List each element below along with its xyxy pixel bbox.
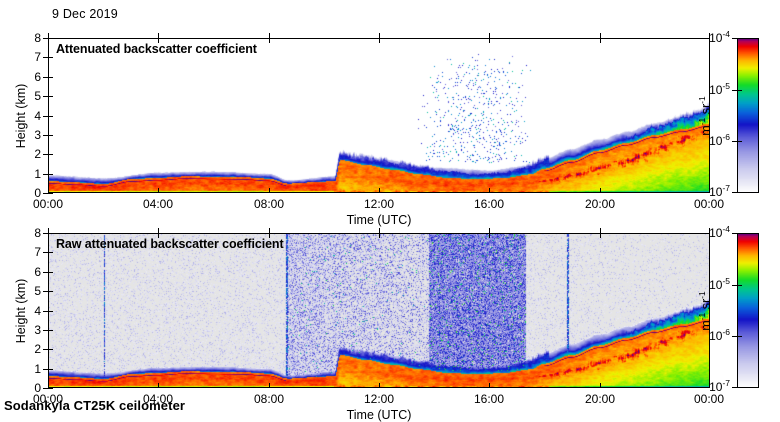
x-tick-label: 20:00 [585, 197, 615, 211]
y-tick-mark-inner [48, 311, 53, 312]
x-tick-mark-bottom [158, 188, 159, 193]
y-tick-mark-inner [48, 77, 53, 78]
panel-raw-attenuated-backscatter: Raw attenuated backscatter coefficient H… [48, 233, 710, 388]
colorbar-tick-label: 10-6 [709, 329, 730, 343]
x-tick-mark-bottom [709, 383, 710, 388]
y-tick-mark-inner [48, 272, 53, 273]
x-tick-label: 12:00 [364, 197, 394, 211]
x-tick-mark-inner-top [379, 233, 380, 238]
x-tick-mark-inner-top [489, 233, 490, 238]
colorbar-tick-mark-inner [737, 387, 742, 388]
x-tick-mark-inner-top [489, 38, 490, 43]
x-tick-mark-bottom [489, 188, 490, 193]
colorbar-tick-label: 10-4 [709, 31, 730, 45]
colorbar-bottom: m-1 sr-1 10-410-510-610-7 [737, 233, 759, 388]
y-tick-label: 3 [34, 323, 41, 337]
x-tick-mark-bottom [379, 383, 380, 388]
y-tick-mark-inner [48, 135, 53, 136]
y-tick-label: 6 [34, 70, 41, 84]
date-label: 9 Dec 2019 [52, 7, 118, 21]
x-tick-mark-inner-top [600, 233, 601, 238]
colorbar-tick-label: 10-7 [709, 380, 730, 394]
panel-attenuated-backscatter: Attenuated backscatter coefficient Heigh… [48, 38, 710, 193]
y-tick-label: 3 [34, 128, 41, 142]
x-tick-mark-bottom [379, 188, 380, 193]
y-tick-mark-inner [48, 349, 53, 350]
colorbar-tick-label: 10-7 [709, 185, 730, 199]
x-tick-mark-bottom [709, 188, 710, 193]
x-tick-label: 16:00 [474, 197, 504, 211]
colorbar-top: m-1 sr-1 10-410-510-610-7 [737, 38, 759, 193]
y-tick-label: 5 [34, 89, 41, 103]
x-tick-label: 20:00 [585, 392, 615, 406]
panel-title-raw: Raw attenuated backscatter coefficient [56, 237, 284, 251]
y-tick-label: 1 [34, 167, 41, 181]
colorbar-tick-label: 10-6 [709, 134, 730, 148]
x-tick-mark-inner-top [600, 38, 601, 43]
colorbar-tick-label: 10-5 [709, 278, 730, 292]
colorbar-tick-label: 10-4 [709, 226, 730, 240]
y-tick-label: 4 [34, 109, 41, 123]
x-tick-label: 04:00 [143, 197, 173, 211]
y-tick-mark-inner [48, 57, 53, 58]
colorbar-tick-mark-inner [737, 141, 742, 142]
x-tick-label: 08:00 [254, 392, 284, 406]
x-tick-mark-inner-top [709, 38, 710, 43]
x-tick-mark-bottom [158, 383, 159, 388]
y-axis-title-top: Height (km) [14, 83, 28, 148]
x-tick-label: 00:00 [694, 392, 724, 406]
y-tick-label: 6 [34, 265, 41, 279]
x-axis-title-top: Time (UTC) [347, 213, 412, 227]
attenuated-backscatter-heatmap [49, 39, 709, 192]
y-tick-label: 5 [34, 284, 41, 298]
y-tick-label: 8 [34, 31, 41, 45]
y-tick-label: 4 [34, 304, 41, 318]
y-tick-mark-inner [48, 174, 53, 175]
x-tick-label: 16:00 [474, 392, 504, 406]
y-tick-label: 1 [34, 362, 41, 376]
y-tick-mark-inner [48, 193, 53, 194]
x-tick-mark-bottom [489, 383, 490, 388]
y-tick-label: 7 [34, 50, 41, 64]
colorbar-tick-mark-inner [737, 336, 742, 337]
colorbar-title-bottom: m-1 sr-1 [699, 291, 713, 330]
y-tick-mark-inner [48, 291, 53, 292]
y-tick-mark-inner [48, 96, 53, 97]
y-tick-label: 8 [34, 226, 41, 240]
colorbar-gradient [738, 39, 758, 192]
y-tick-label: 7 [34, 245, 41, 259]
y-tick-mark-inner [48, 369, 53, 370]
x-tick-label: 08:00 [254, 197, 284, 211]
x-tick-mark-inner-top [269, 38, 270, 43]
colorbar-tick-label: 10-5 [709, 83, 730, 97]
x-tick-mark-bottom [600, 188, 601, 193]
ceilometer-figure: 9 Dec 2019 Attenuated backscatter coeffi… [0, 0, 780, 420]
x-tick-mark-bottom [48, 188, 49, 193]
colorbar-tick-mark-inner [737, 285, 742, 286]
colorbar-title-top: m-1 sr-1 [699, 96, 713, 135]
y-axis-title-bottom: Height (km) [14, 278, 28, 343]
y-tick-mark-inner [48, 154, 53, 155]
colorbar-tick-mark-inner [737, 233, 742, 234]
x-tick-label: 00:00 [33, 197, 63, 211]
x-tick-mark-inner-top [709, 233, 710, 238]
x-tick-label: 12:00 [364, 392, 394, 406]
colorbar-gradient [738, 234, 758, 387]
x-tick-mark-bottom [269, 383, 270, 388]
x-tick-mark-bottom [48, 383, 49, 388]
raw-attenuated-backscatter-heatmap [49, 234, 709, 387]
x-tick-mark-inner-top [379, 38, 380, 43]
x-tick-mark-inner-top [48, 233, 49, 238]
x-tick-mark-bottom [269, 188, 270, 193]
x-tick-label: 00:00 [694, 197, 724, 211]
y-tick-mark-inner [48, 116, 53, 117]
colorbar-tick-mark-inner [737, 192, 742, 193]
instrument-caption: Sodankyla CT25K ceilometer [4, 398, 185, 413]
y-tick-mark-inner [48, 252, 53, 253]
y-tick-label: 2 [34, 342, 41, 356]
x-tick-mark-bottom [600, 383, 601, 388]
y-tick-mark-inner [48, 388, 53, 389]
colorbar-tick-mark-inner [737, 90, 742, 91]
colorbar-tick-mark-inner [737, 38, 742, 39]
x-tick-mark-inner-top [48, 38, 49, 43]
y-tick-label: 2 [34, 147, 41, 161]
panel-title-attenuated: Attenuated backscatter coefficient [56, 42, 257, 56]
y-tick-mark-inner [48, 330, 53, 331]
